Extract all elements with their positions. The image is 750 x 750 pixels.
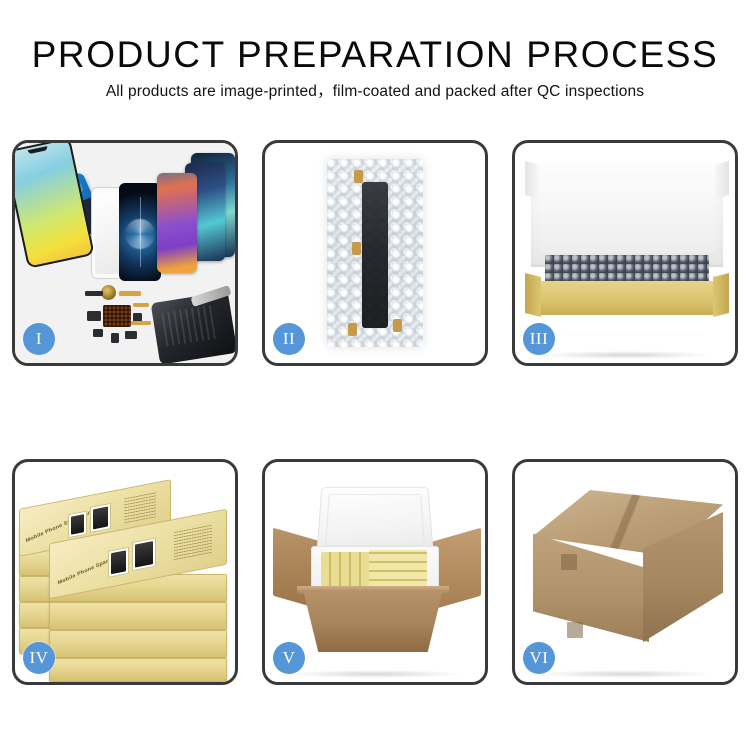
step-card-4[interactable]: Mobile Phone Spare Parts Mobile Phone Sp… (12, 459, 238, 685)
drop-shadow (537, 351, 713, 359)
wrapped-part-graphic (362, 182, 388, 329)
yellow-boxes-row-2 (369, 550, 427, 588)
connector-tab-graphic (354, 170, 363, 183)
carton-body (297, 590, 449, 652)
drop-shadow (537, 670, 713, 678)
step-badge-4: IV (23, 642, 55, 674)
page-title: PRODUCT PREPARATION PROCESS (0, 34, 750, 76)
box-side-face (49, 630, 227, 658)
step-badge-3: III (523, 323, 555, 355)
box-stack-graphic: Mobile Phone Spare Parts Mobile Phone Sp… (19, 478, 233, 670)
step-card-2[interactable]: II (262, 140, 488, 366)
kraft-box-tray-graphic (533, 281, 721, 315)
small-part-graphic (87, 311, 101, 321)
box-side-face (49, 658, 227, 682)
connector-tab-graphic (348, 323, 357, 336)
small-part-graphic (111, 333, 119, 343)
coil-part-graphic (101, 285, 116, 300)
connector-tab-graphic (393, 319, 402, 332)
step-card-1[interactable]: I (12, 140, 238, 366)
step-badge-6: VI (523, 642, 555, 674)
step-badge-2: II (273, 323, 305, 355)
carton-tape-patch (567, 622, 583, 638)
carton-tape-patch (561, 554, 577, 570)
step-badge-5: V (273, 642, 305, 674)
ic-chip-grid-graphic (103, 305, 131, 327)
box-window (132, 538, 156, 572)
small-part-graphic (85, 291, 103, 296)
bubble-wrap-bag-graphic (327, 159, 423, 347)
phone-graphic-2 (157, 173, 197, 273)
flex-cable-graphic (131, 321, 151, 325)
box-spec-lines (174, 523, 212, 560)
flex-cable-graphic (133, 303, 149, 307)
phone-graphic-1 (15, 143, 95, 269)
drop-shadow (287, 670, 463, 678)
flex-cable-graphic (119, 291, 141, 296)
foam-lid-open-graphic (316, 487, 434, 554)
step-card-6[interactable]: VI (512, 459, 738, 685)
small-part-graphic (93, 329, 103, 337)
header: PRODUCT PREPARATION PROCESS All products… (0, 34, 750, 102)
connector-tab-graphic (352, 242, 361, 255)
page-subtitle: All products are image-printed，film-coat… (0, 82, 750, 102)
box-window (108, 547, 129, 578)
box-window (90, 503, 111, 533)
lcd-screen-graphic (119, 183, 161, 281)
process-steps-grid: I II III (12, 140, 738, 685)
bubble-wrapped-contents-graphic (545, 255, 709, 283)
step-badge-1: I (23, 323, 55, 355)
box-window (68, 511, 87, 539)
small-part-graphic (125, 331, 137, 339)
step-card-5[interactable]: V (262, 459, 488, 685)
product-preparation-process-page: PRODUCT PREPARATION PROCESS All products… (0, 0, 750, 750)
box-spec-lines (124, 491, 156, 523)
box-side-face (49, 602, 227, 630)
foam-sheet-graphic (539, 187, 715, 253)
step-card-3[interactable]: III (512, 140, 738, 366)
